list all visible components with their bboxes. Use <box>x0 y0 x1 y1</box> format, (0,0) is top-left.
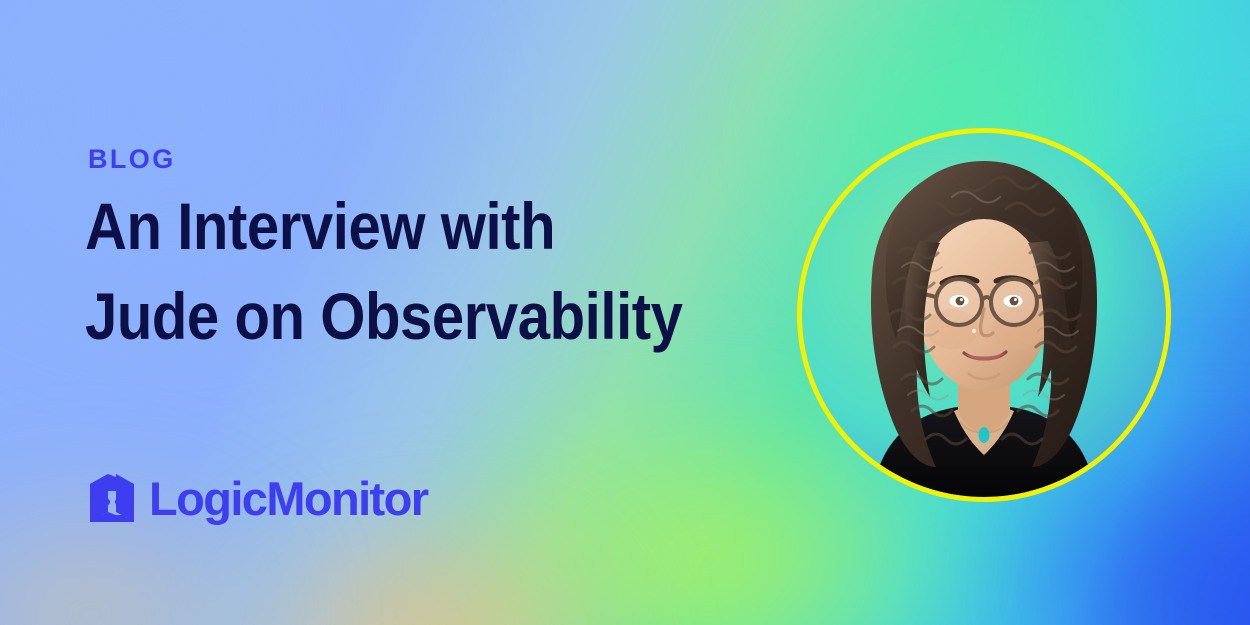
page-title-line-1: An Interview with <box>85 193 701 259</box>
blog-promo-banner: BLOG An Interview with Jude on Observabi… <box>0 0 1250 625</box>
page-title-line-2: Jude on Observability <box>85 283 701 349</box>
logicmonitor-mark-icon <box>88 472 136 524</box>
portrait-ring <box>797 128 1171 502</box>
category-eyebrow: BLOG <box>88 144 176 175</box>
banner-text-column: BLOG An Interview with Jude on Observabi… <box>88 0 788 625</box>
logicmonitor-logo: LogicMonitor <box>88 472 427 524</box>
logicmonitor-wordmark: LogicMonitor <box>149 475 427 522</box>
page-title: An Interview with Jude on Observability <box>85 193 701 349</box>
author-portrait <box>797 128 1171 502</box>
